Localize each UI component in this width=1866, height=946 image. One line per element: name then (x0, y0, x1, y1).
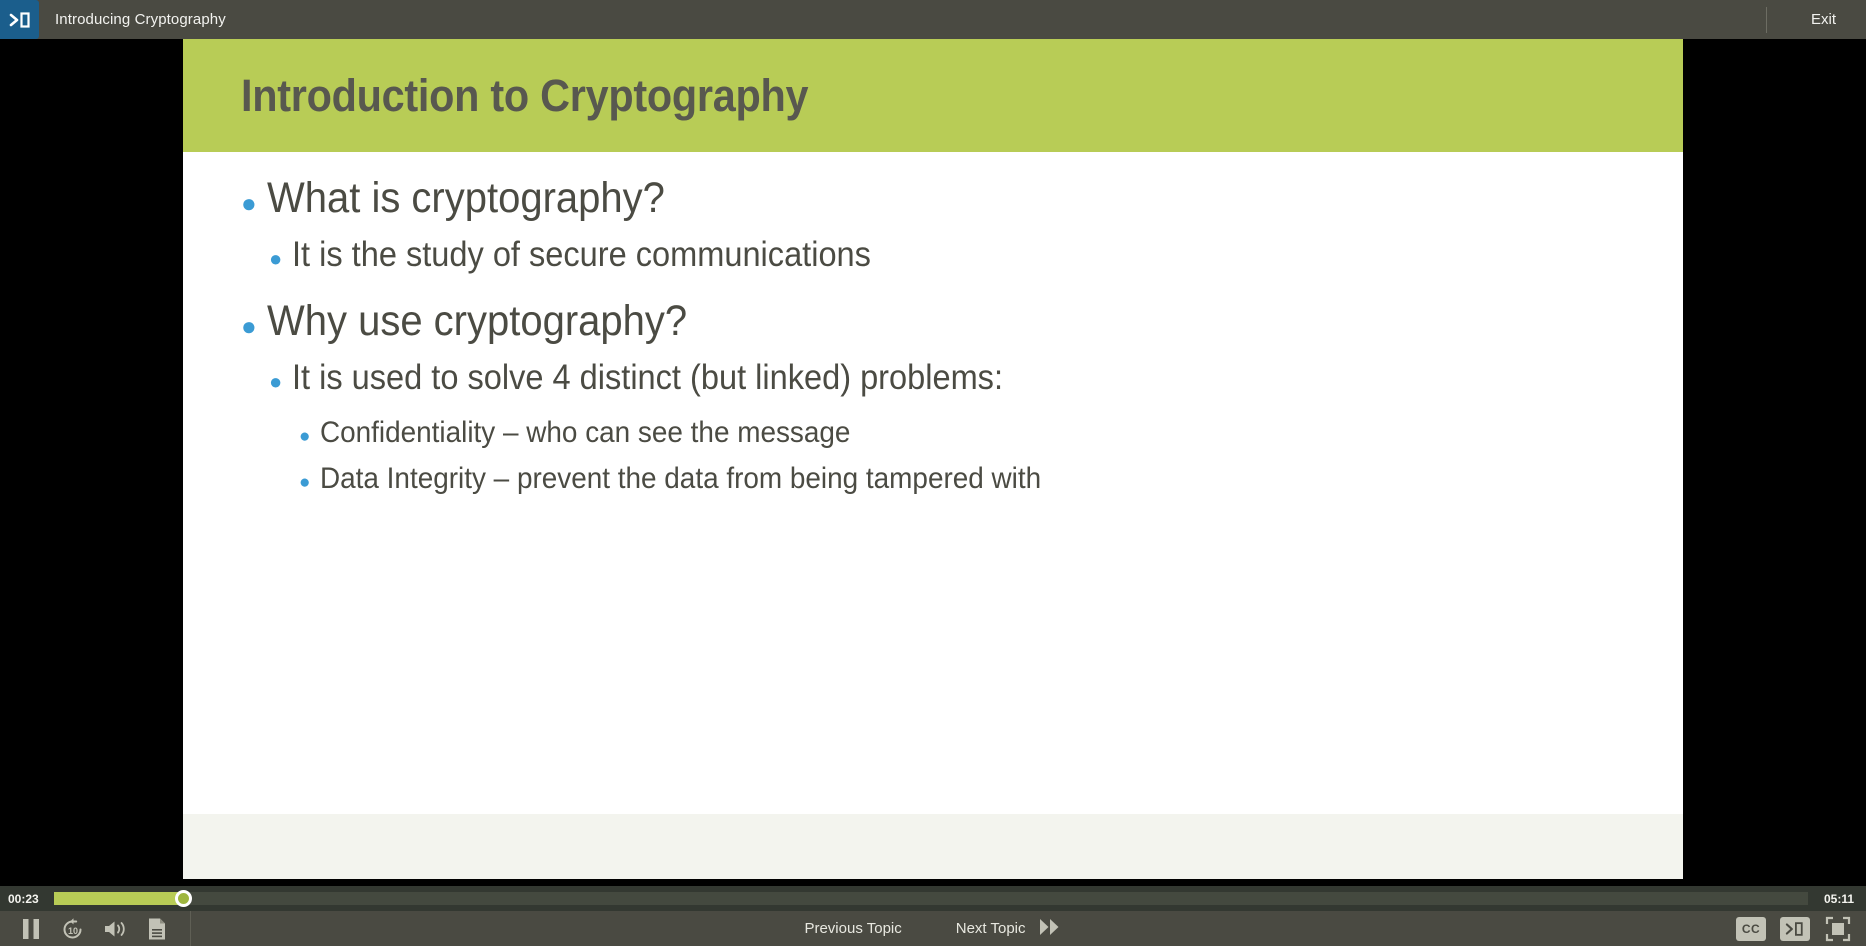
slide-footer-band (183, 814, 1683, 879)
seek-track[interactable] (54, 892, 1808, 905)
total-time: 05:11 (1814, 892, 1854, 906)
bullet-text: Why use cryptography? (267, 297, 687, 346)
bullet-text: It is the study of secure communications (292, 235, 871, 275)
slide-body: ● What is cryptography? ● It is the stud… (183, 152, 1683, 814)
volume-button[interactable] (94, 911, 136, 946)
bullet-item: ● It is the study of secure communicatio… (183, 235, 1683, 275)
bullet-item: ● It is used to solve 4 distinct (but li… (183, 358, 1683, 398)
bullet-text: Data Integrity – prevent the data from b… (320, 462, 1041, 496)
top-bar-right-group: Exit (1766, 0, 1866, 39)
course-player-window: Introducing Cryptography Exit Introducti… (0, 0, 1866, 946)
bullet-dot-icon: ● (241, 190, 267, 216)
bullet-text: What is cryptography? (267, 174, 665, 223)
player-options-group: CC (1736, 911, 1866, 946)
sidebar-panel-icon[interactable] (0, 0, 39, 39)
course-title: Introducing Cryptography (55, 11, 226, 28)
seek-handle[interactable] (175, 890, 192, 907)
bullet-dot-icon: ● (299, 473, 320, 492)
bullet-text: It is used to solve 4 distinct (but link… (292, 358, 1003, 398)
control-divider (190, 911, 191, 946)
double-chevron-right-icon (1038, 918, 1062, 940)
bullet-item: ● Confidentiality – who can see the mess… (183, 416, 1683, 450)
svg-text:10: 10 (68, 926, 78, 936)
spacer (183, 348, 1683, 358)
spacer (183, 402, 1683, 416)
top-bar-divider (1766, 7, 1767, 33)
pause-button[interactable] (10, 911, 52, 946)
bullet-text: Confidentiality – who can see the messag… (320, 416, 850, 450)
bullet-dot-icon: ● (269, 248, 292, 270)
exit-button[interactable]: Exit (1807, 7, 1866, 32)
spacer (183, 279, 1683, 297)
slide-canvas: Introduction to Cryptography ● What is c… (183, 39, 1683, 879)
bullet-item: ● Why use cryptography? (183, 297, 1683, 346)
elapsed-time: 00:23 (8, 892, 48, 906)
seek-progress-fill (54, 892, 184, 905)
replay-10-button[interactable]: 10 (52, 911, 94, 946)
sidebar-panel-icon[interactable] (1780, 917, 1810, 941)
bullet-dot-icon: ● (299, 427, 320, 446)
previous-topic-label: Previous Topic (804, 920, 901, 937)
topic-navigation-group: Previous Topic Next Topic (0, 911, 1866, 946)
slide-title-band: Introduction to Cryptography (183, 39, 1683, 152)
spacer (183, 225, 1683, 235)
spacer (183, 452, 1683, 462)
seek-bar-area: 00:23 05:11 (0, 886, 1866, 911)
transcript-button[interactable] (136, 911, 178, 946)
bullet-dot-icon: ● (269, 371, 292, 393)
cc-button[interactable]: CC (1736, 917, 1766, 941)
bullet-item: ● Data Integrity – prevent the data from… (183, 462, 1683, 496)
next-topic-label: Next Topic (956, 920, 1026, 937)
slide-title: Introduction to Cryptography (241, 70, 808, 122)
top-bar: Introducing Cryptography Exit (0, 0, 1866, 39)
next-topic-button[interactable]: Next Topic (956, 918, 1062, 940)
playback-controls-group: 10 (0, 911, 191, 946)
bullet-dot-icon: ● (241, 313, 267, 339)
previous-topic-button[interactable]: Previous Topic (804, 920, 901, 937)
fullscreen-icon[interactable] (1824, 915, 1852, 943)
player-control-bar: 10 (0, 911, 1866, 946)
bullet-item: ● What is cryptography? (183, 174, 1683, 223)
